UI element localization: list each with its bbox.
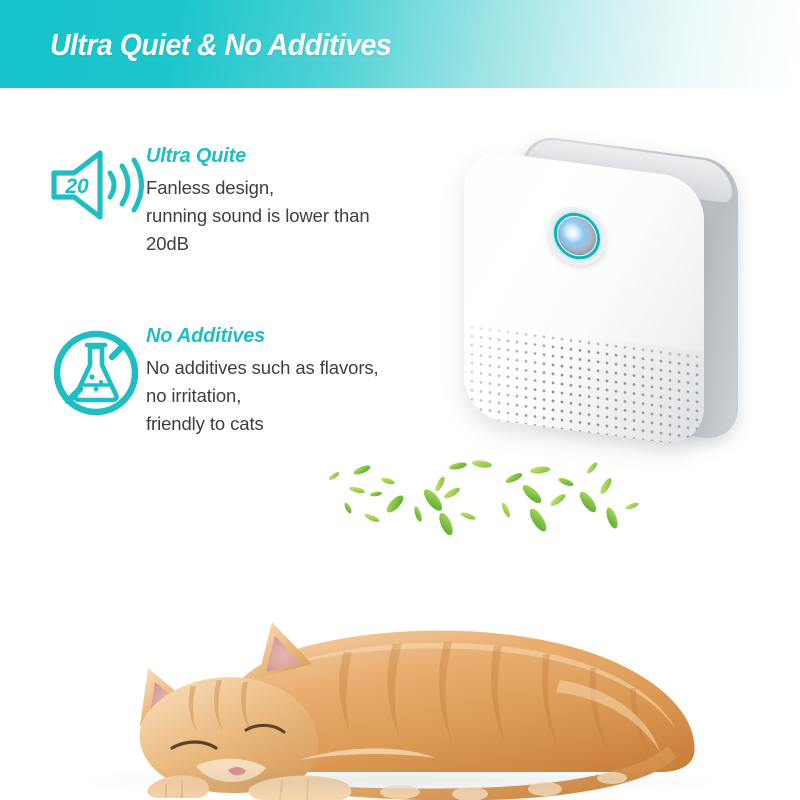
product-feature-page: Ultra Quiet & No Additives 20 bbox=[0, 0, 800, 800]
device-front-panel bbox=[464, 148, 704, 448]
speaker-volume-icon: 20 bbox=[46, 143, 146, 225]
feature-title: No Additives bbox=[146, 323, 379, 349]
speaker-db-badge: 20 bbox=[64, 175, 89, 198]
header-banner: Ultra Quiet & No Additives bbox=[0, 0, 800, 88]
device-power-button[interactable] bbox=[548, 203, 606, 269]
feature-title: Ultra Quite bbox=[146, 143, 370, 169]
air-purifier-device bbox=[452, 140, 772, 470]
cat-ground-shadow bbox=[90, 768, 710, 794]
page-title: Ultra Quiet & No Additives bbox=[50, 25, 391, 65]
sleeping-cat-photo bbox=[0, 560, 800, 800]
device-button-indicator-light bbox=[558, 215, 596, 258]
feature-description: Fanless design, running sound is lower t… bbox=[146, 174, 370, 258]
device-button-ring bbox=[554, 210, 600, 262]
feature-body: No Additives No additives such as flavor… bbox=[146, 323, 379, 438]
device-vent-grille bbox=[464, 320, 704, 448]
feature-body: Ultra Quite Fanless design, running soun… bbox=[146, 143, 370, 258]
feature-item-ultra-quiet: 20 Ultra Quite Fanless design, running s… bbox=[46, 143, 370, 258]
feature-description: No additives such as flavors, no irritat… bbox=[146, 354, 379, 438]
no-chemicals-flask-icon bbox=[46, 323, 146, 421]
green-leaves-airflow bbox=[300, 448, 650, 568]
feature-item-no-additives: No Additives No additives such as flavor… bbox=[46, 323, 379, 438]
cat-illustration bbox=[0, 560, 800, 800]
